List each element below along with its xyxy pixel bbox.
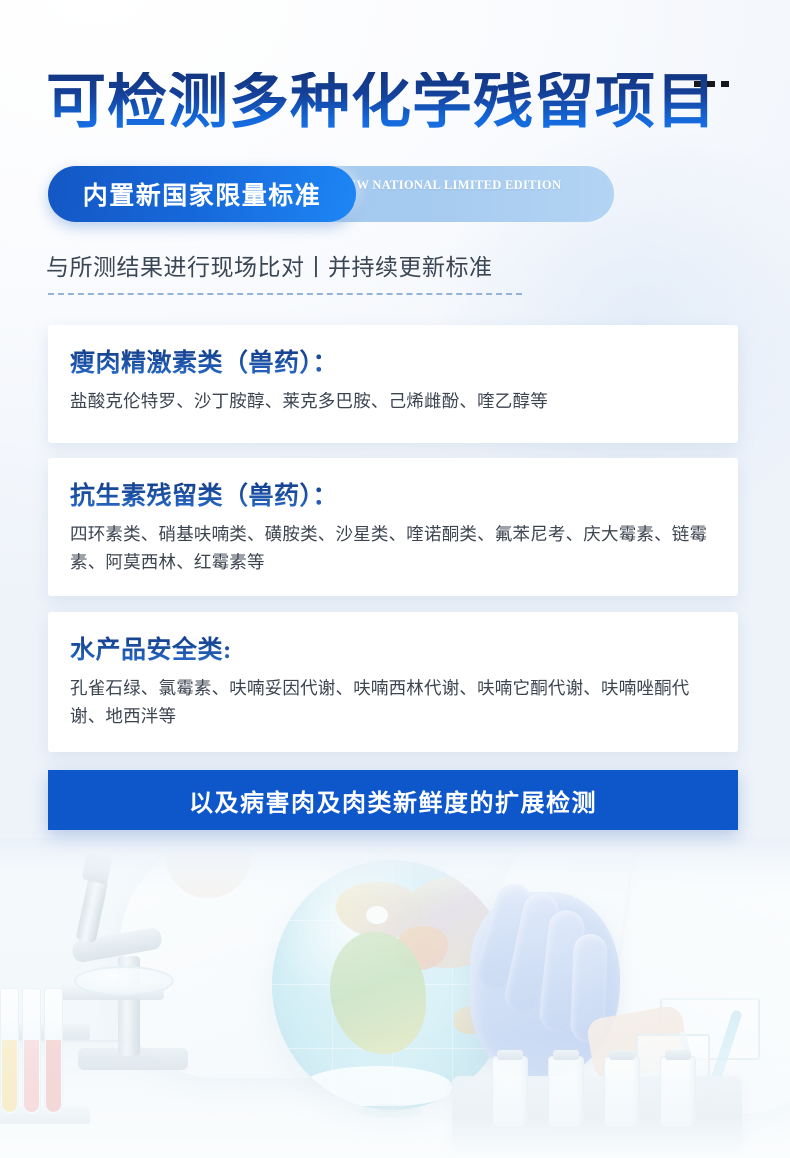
polar-highlight (366, 906, 388, 924)
sample-vial (604, 1056, 640, 1128)
standards-badge: BUILT IN NEW NATIONAL LIMITED EDITION ST… (48, 166, 614, 222)
continent-antarctica (302, 1066, 452, 1106)
category-heading: 水产品安全类: (70, 630, 718, 666)
extended-detection-label: 以及病害肉及肉类新鲜度的扩展检测 (189, 783, 597, 818)
sample-vial (548, 1056, 584, 1128)
microscope-eyepiece (81, 852, 112, 885)
category-body: 四环素类、硝基呋喃类、磺胺类、沙星类、喹诺酮类、氟苯尼考、庆大霉素、链霉素、阿莫… (70, 520, 718, 577)
category-card: 水产品安全类: 孔雀石绿、氯霉素、呋喃妥因代谢、呋喃西林代谢、呋喃它酮代谢、呋喃… (48, 612, 738, 752)
category-body: 孔雀石绿、氯霉素、呋喃妥因代谢、呋喃西林代谢、呋喃它酮代谢、呋喃唑酮代谢、地西泮… (70, 674, 718, 731)
test-tube (44, 988, 63, 1115)
test-tube (0, 988, 19, 1115)
sample-vial (492, 1056, 528, 1128)
dashed-divider (48, 293, 522, 295)
category-card: 瘦肉精激素类（兽药）： 盐酸克伦特罗、沙丁胺醇、莱克多巴胺、己烯雌酚、喹乙醇等 (48, 325, 738, 443)
page-subtitle: 与所测结果进行现场比对丨并持续更新标准 (46, 248, 493, 282)
badge-primary-pill: 内置新国家限量标准 (48, 166, 356, 222)
laboratory-photo (0, 838, 790, 1158)
petri-dish (74, 966, 174, 996)
sample-vial (660, 1056, 696, 1128)
category-heading: 瘦肉精激素类（兽药）： (70, 343, 718, 379)
category-card: 抗生素残留类（兽药）： 四环素类、硝基呋喃类、磺胺类、沙星类、喹诺酮类、氟苯尼考… (48, 458, 738, 596)
category-heading: 抗生素残留类（兽药）： (70, 476, 718, 512)
extended-detection-banner: 以及病害肉及肉类新鲜度的扩展检测 (48, 770, 738, 830)
badge-primary-label: 内置新国家限量标准 (83, 176, 322, 212)
test-tube (22, 988, 41, 1115)
promo-page: 可检测多种化学残留项目 BUILT IN NEW NATIONAL LIMITE… (0, 0, 790, 1158)
category-body: 盐酸克伦特罗、沙丁胺醇、莱克多巴胺、己烯雌酚、喹乙醇等 (70, 387, 718, 415)
microscope-tube (76, 877, 109, 944)
globe-shadow (356, 1104, 422, 1118)
page-title: 可检测多种化学残留项目 (46, 72, 717, 132)
